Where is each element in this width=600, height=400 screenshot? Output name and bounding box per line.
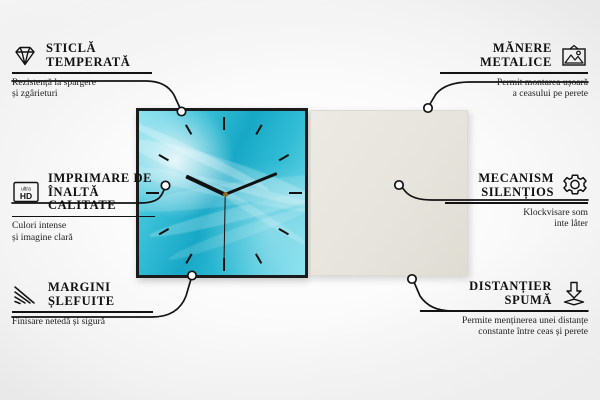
callout-subtitle: Klockvisare som inte låter bbox=[445, 207, 588, 230]
callout-high-quality-print: ultra HD IMPRIMARE DE ÎNALTĂ CALITATE Cu… bbox=[12, 172, 164, 243]
callout-title: MECANISM SILENȚIOS bbox=[478, 172, 554, 199]
diamond-icon bbox=[12, 45, 38, 67]
callout-subtitle: Rezistență la spargere și zgârieturi bbox=[12, 77, 162, 100]
callout-metal-handles: MĂNERE METALICE Permit montarea ușoară a… bbox=[440, 42, 588, 100]
callout-subtitle: Permite menținerea unei distanțe constan… bbox=[420, 315, 588, 338]
callout-foam-spacer: DISTANȚIER SPUMĂ Permite menținerea unei… bbox=[420, 280, 588, 338]
callout-subtitle: Finisare netedă și sigură bbox=[12, 316, 162, 328]
callout-tempered-glass: STICLĂ TEMPERATĂ Rezistență la spargere … bbox=[12, 42, 162, 100]
callout-rule bbox=[445, 202, 588, 204]
callout-rule bbox=[440, 72, 588, 74]
callout-rule bbox=[420, 310, 588, 312]
callout-rule bbox=[12, 216, 155, 218]
callout-title: DISTANȚIER SPUMĂ bbox=[469, 280, 552, 307]
callout-silent-mechanism: MECANISM SILENȚIOS Klockvisare som inte … bbox=[445, 172, 588, 230]
callout-subtitle: Culori intense și imagine clară bbox=[12, 220, 164, 243]
callout-title: MĂNERE METALICE bbox=[480, 42, 552, 69]
clock-hub bbox=[223, 192, 228, 197]
down-arrow-stack-icon bbox=[560, 281, 588, 307]
ultra-hd-icon-bottom: HD bbox=[20, 191, 32, 201]
callout-rule bbox=[12, 72, 152, 74]
ultra-hd-icon: ultra HD bbox=[12, 180, 40, 204]
callout-subtitle: Permit montarea ușoară a ceasului pe per… bbox=[440, 77, 588, 100]
polished-edge-icon bbox=[12, 284, 40, 306]
picture-frame-icon bbox=[560, 44, 588, 68]
infographic-canvas: STICLĂ TEMPERATĂ Rezistență la spargere … bbox=[0, 0, 600, 400]
gear-icon bbox=[562, 173, 588, 198]
callout-title: IMPRIMARE DE ÎNALTĂ CALITATE bbox=[48, 172, 164, 213]
callout-rule bbox=[12, 311, 153, 313]
callout-title: MARGINI ȘLEFUITE bbox=[48, 281, 115, 308]
callout-title: STICLĂ TEMPERATĂ bbox=[46, 42, 130, 69]
callout-polished-edges: MARGINI ȘLEFUITE Finisare netedă și sigu… bbox=[12, 281, 162, 327]
